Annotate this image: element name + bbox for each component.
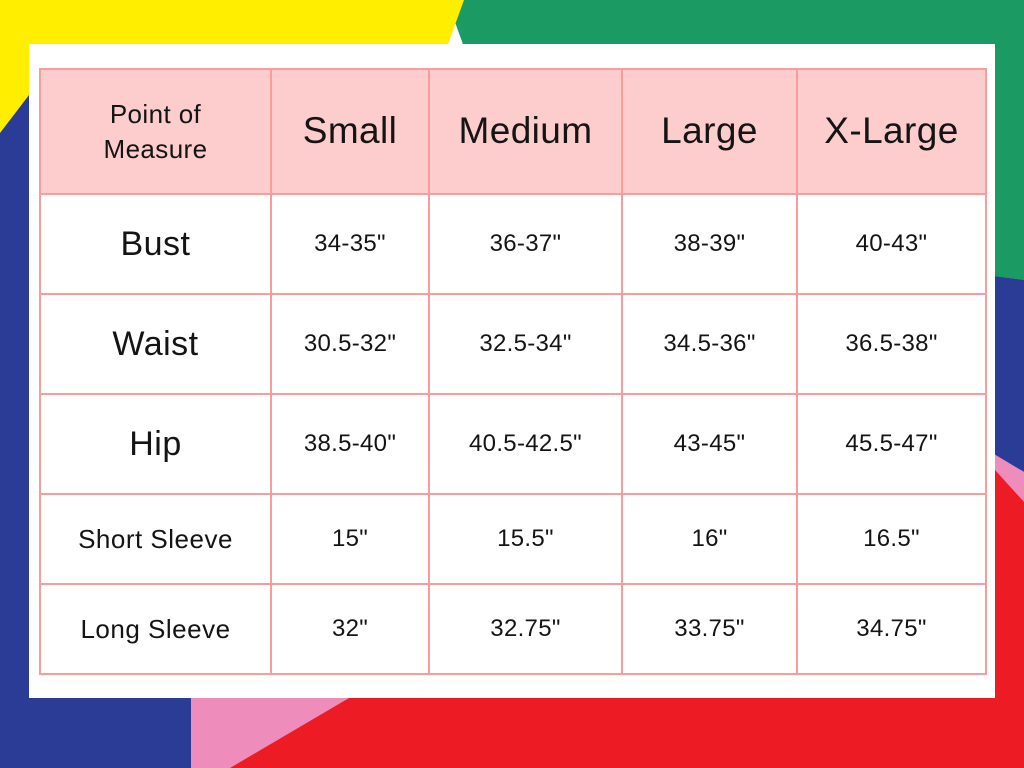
cell-hip-large: 43-45" (622, 394, 797, 494)
cell-short-sleeve-large: 16" (622, 494, 797, 584)
cell-short-sleeve-small: 15" (271, 494, 429, 584)
column-header-xlarge: X-Large (797, 69, 986, 194)
shape-red-bottom (230, 698, 1024, 768)
cell-long-sleeve-large: 33.75" (622, 584, 797, 674)
size-chart-table: Point of Measure Small Medium Large X-La… (39, 68, 987, 675)
table-row: Long Sleeve 32" 32.75" 33.75" 34.75" (40, 584, 986, 674)
cell-bust-small: 34-35" (271, 194, 429, 294)
cell-bust-medium: 36-37" (429, 194, 622, 294)
cell-long-sleeve-xlarge: 34.75" (797, 584, 986, 674)
cell-hip-xlarge: 45.5-47" (797, 394, 986, 494)
cell-long-sleeve-small: 32" (271, 584, 429, 674)
cell-long-sleeve-medium: 32.75" (429, 584, 622, 674)
cell-waist-xlarge: 36.5-38" (797, 294, 986, 394)
row-label-bust: Bust (40, 194, 271, 294)
cell-waist-medium: 32.5-34" (429, 294, 622, 394)
cell-bust-large: 38-39" (622, 194, 797, 294)
table-row: Short Sleeve 15" 15.5" 16" 16.5" (40, 494, 986, 584)
cell-waist-large: 34.5-36" (622, 294, 797, 394)
column-header-medium: Medium (429, 69, 622, 194)
cell-short-sleeve-xlarge: 16.5" (797, 494, 986, 584)
column-header-line2: Measure (45, 132, 266, 166)
cell-short-sleeve-medium: 15.5" (429, 494, 622, 584)
table-row: Bust 34-35" 36-37" 38-39" 40-43" (40, 194, 986, 294)
column-header-small: Small (271, 69, 429, 194)
row-label-waist: Waist (40, 294, 271, 394)
size-chart-poster: Point of Measure Small Medium Large X-La… (0, 0, 1024, 768)
cell-hip-medium: 40.5-42.5" (429, 394, 622, 494)
column-header-point-of-measure: Point of Measure (40, 69, 271, 194)
cell-hip-small: 38.5-40" (271, 394, 429, 494)
row-label-short-sleeve: Short Sleeve (40, 494, 271, 584)
cell-waist-small: 30.5-32" (271, 294, 429, 394)
table-header: Point of Measure Small Medium Large X-La… (40, 69, 986, 194)
row-label-hip: Hip (40, 394, 271, 494)
table-header-row: Point of Measure Small Medium Large X-La… (40, 69, 986, 194)
column-header-large: Large (622, 69, 797, 194)
column-header-line1: Point of (45, 97, 266, 131)
cell-bust-xlarge: 40-43" (797, 194, 986, 294)
table-row: Waist 30.5-32" 32.5-34" 34.5-36" 36.5-38… (40, 294, 986, 394)
table-body: Bust 34-35" 36-37" 38-39" 40-43" Waist 3… (40, 194, 986, 674)
row-label-long-sleeve: Long Sleeve (40, 584, 271, 674)
table-row: Hip 38.5-40" 40.5-42.5" 43-45" 45.5-47" (40, 394, 986, 494)
